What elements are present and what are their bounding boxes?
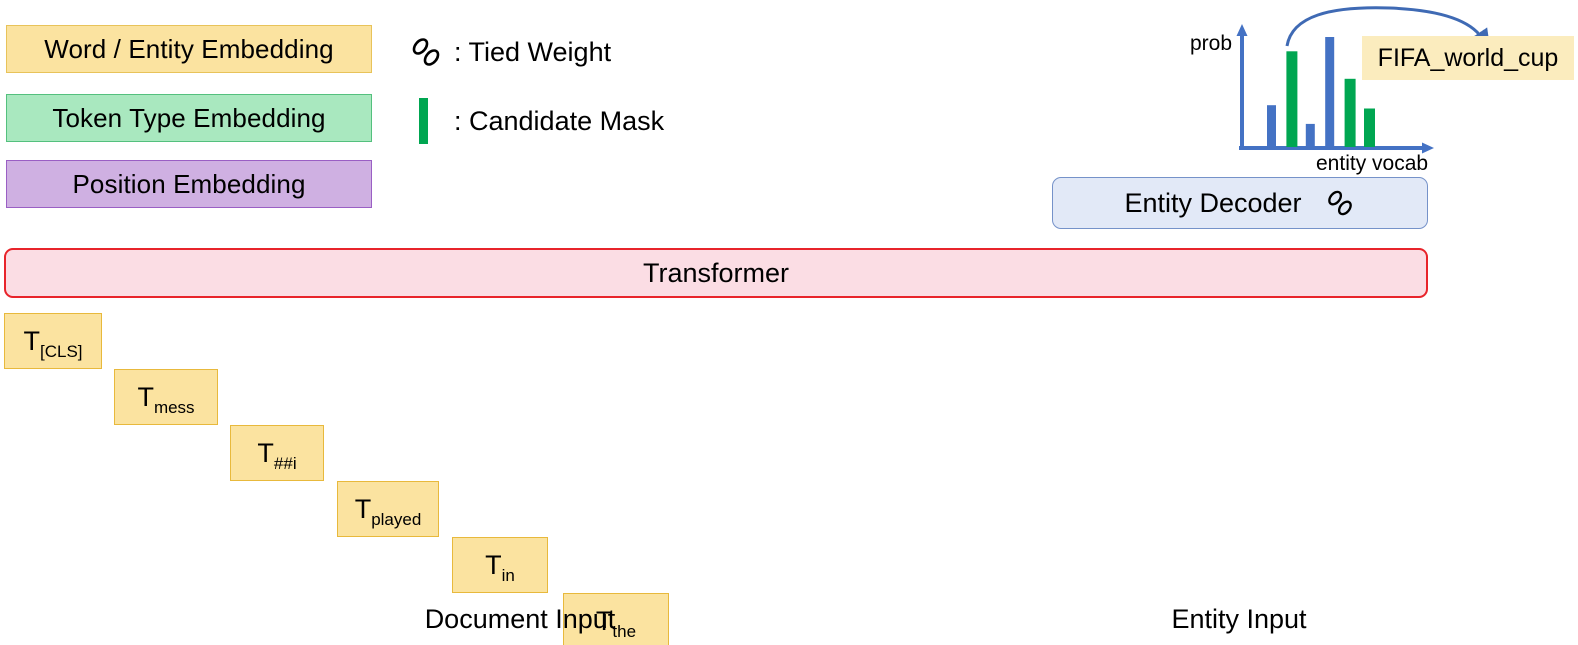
legend-key-word-entity-embedding: Word / Entity Embedding — [6, 25, 372, 73]
embedding-sub: played — [371, 510, 421, 529]
entity-input-caption: Entity Input — [1048, 604, 1430, 635]
embedding-base: T — [23, 326, 40, 356]
embedding-sub: in — [502, 566, 515, 585]
chart-bar — [1306, 124, 1315, 147]
legend-symbol-tied-weight: : Tied Weight — [408, 30, 738, 74]
embedding-sub: [CLS] — [40, 342, 83, 361]
transformer-block[interactable]: Transformer — [4, 248, 1428, 298]
predicted-entity-label: FIFA_world_cup — [1378, 44, 1559, 73]
embedding-cell[interactable]: Tin — [452, 537, 548, 593]
legend-symbol-label: : Tied Weight — [454, 37, 611, 68]
legend-key-position-embedding: Position Embedding — [6, 160, 372, 208]
embedding-sub: ##i — [274, 454, 297, 473]
legend-symbol-candidate-mask: : Candidate Mask — [408, 96, 758, 146]
legend-symbol-label: : Candidate Mask — [454, 106, 664, 137]
embedding-base: T — [485, 550, 502, 580]
chain-link-icon — [408, 34, 444, 70]
embedding-cell[interactable]: Tmess — [114, 369, 218, 425]
legend-key-label: Position Embedding — [72, 169, 305, 200]
embedding-base: T — [257, 438, 274, 468]
document-input-caption: Document Input — [2, 604, 1038, 635]
embedding-cell[interactable]: Tplayed — [337, 481, 439, 537]
predicted-entity-chip: FIFA_world_cup — [1362, 36, 1574, 80]
legend-key-label: Token Type Embedding — [52, 103, 325, 134]
legend-key-label: Word / Entity Embedding — [44, 34, 333, 65]
legend-key-token-type-embedding: Token Type Embedding — [6, 94, 372, 142]
embedding-base: T — [355, 494, 372, 524]
candidate-mask-icon — [419, 98, 428, 144]
embedding-cell[interactable]: T[CLS] — [4, 313, 102, 369]
chart-bar — [1267, 105, 1276, 147]
chart-bar — [1345, 79, 1356, 147]
embedding-base: T — [137, 382, 154, 412]
diagram-canvas: Word / Entity Embedding Token Type Embed… — [0, 0, 1578, 645]
embedding-sub: mess — [154, 398, 195, 417]
chain-link-icon — [1324, 187, 1356, 219]
entity-decoder-label: Entity Decoder — [1124, 188, 1301, 219]
chart-bar — [1364, 109, 1375, 148]
entity-decoder-box[interactable]: Entity Decoder — [1052, 177, 1428, 229]
transformer-label: Transformer — [643, 258, 789, 289]
embedding-cell[interactable]: T##i — [230, 425, 324, 481]
